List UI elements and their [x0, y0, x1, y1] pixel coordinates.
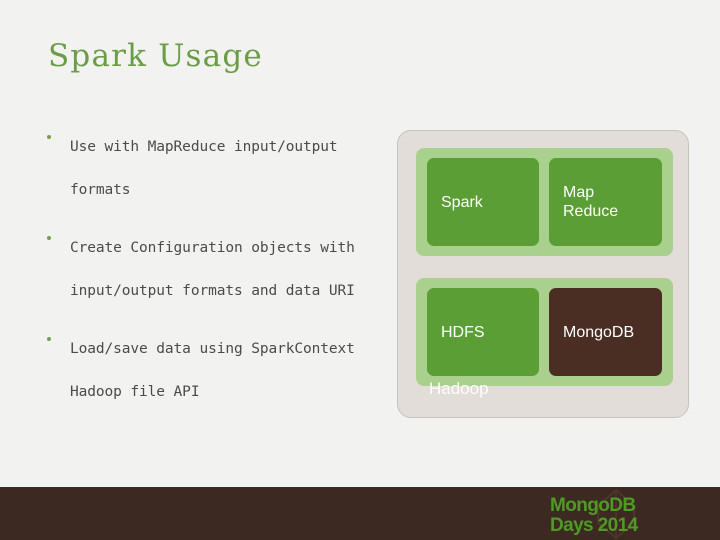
diagram-row-compute: Spark Map Reduce [416, 148, 673, 256]
logo-line-2: Days 2014 [550, 516, 638, 535]
list-item-text: Use with MapReduce input/output formats [70, 126, 384, 212]
list-item: Use with MapReduce input/output formats [44, 126, 384, 212]
mongodb-days-logo: MongoDB Days 2014 [550, 493, 680, 537]
list-item: Load/save data using SparkContext Hadoop… [44, 328, 384, 414]
logo-line-1: MongoDB [550, 496, 638, 515]
diagram-row-storage: HDFS MongoDB [416, 278, 673, 386]
bullet-list: Use with MapReduce input/output formats … [44, 126, 384, 429]
list-item-text: Load/save data using SparkContext Hadoop… [70, 328, 384, 414]
diagram-box-label-line1: Map [563, 184, 594, 201]
architecture-diagram: Spark Map Reduce HDFS MongoDB Hadoop [397, 130, 689, 418]
diagram-box-mongodb: MongoDB [549, 288, 662, 376]
slide: Spark Usage Use with MapReduce input/out… [0, 0, 720, 540]
diagram-container-label: Hadoop [429, 379, 489, 399]
diagram-box-label: Map Reduce [563, 183, 618, 221]
diagram-box-label: MongoDB [563, 323, 634, 342]
list-item-text: Create Configuration objects with input/… [70, 227, 384, 313]
bullet-dot-icon [47, 337, 51, 341]
list-item: Create Configuration objects with input/… [44, 227, 384, 313]
diagram-box-mapreduce: Map Reduce [549, 158, 662, 246]
diagram-box-label: HDFS [441, 323, 485, 342]
diagram-box-hdfs: HDFS [427, 288, 539, 376]
logo-text-block: MongoDB Days 2014 [550, 496, 638, 535]
diagram-box-spark: Spark [427, 158, 539, 246]
page-title: Spark Usage [48, 38, 263, 74]
footer-bar: MongoDB Days 2014 [0, 487, 720, 540]
bullet-dot-icon [47, 236, 51, 240]
diagram-box-label-line2: Reduce [563, 203, 618, 220]
diagram-box-label: Spark [441, 193, 483, 212]
bullet-dot-icon [47, 135, 51, 139]
